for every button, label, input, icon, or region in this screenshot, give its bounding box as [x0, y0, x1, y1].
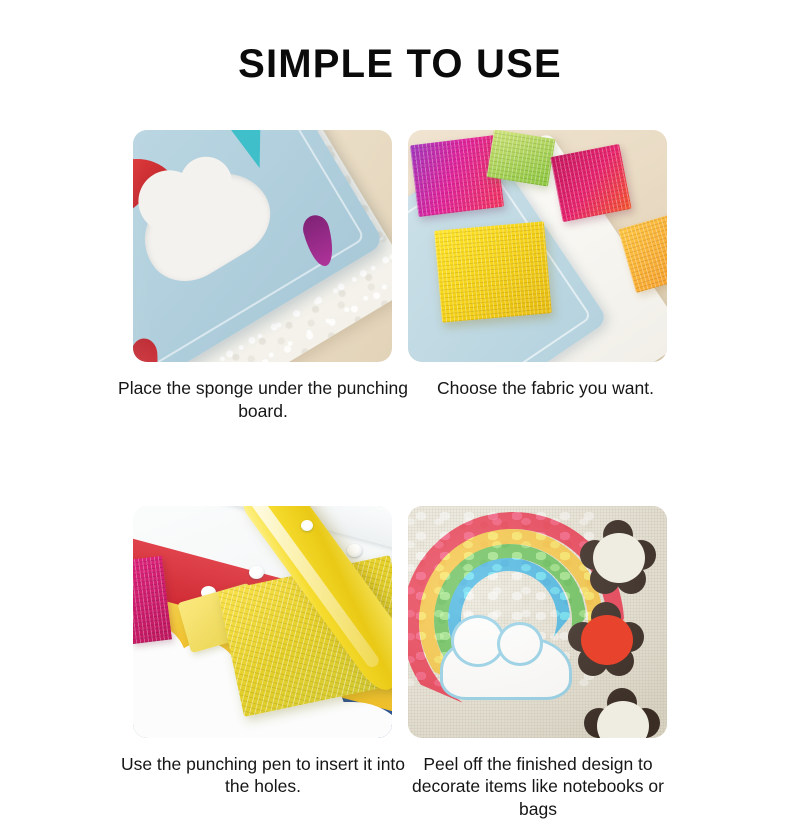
fabric-swatch-yellow: [434, 221, 552, 322]
page-title: SIMPLE TO USE: [0, 42, 800, 87]
cloud-cutout-icon: [133, 155, 285, 297]
punch-hole: [301, 520, 313, 531]
step-image-2: [408, 130, 667, 362]
step-cell-1: Place the sponge under the punching boar…: [133, 130, 392, 423]
step-cell-3: Use the punching pen to insert it into t…: [133, 506, 392, 821]
step-caption-1: Place the sponge under the punching boar…: [118, 377, 408, 423]
steps-grid: Place the sponge under the punching boar…: [133, 130, 667, 821]
infographic-page: SIMPLE TO USE Place the sponge under the…: [0, 0, 800, 800]
punch-hole: [347, 544, 362, 557]
step-image-1: [133, 130, 392, 362]
fabric-swatch-green: [487, 130, 556, 187]
flower-filled-icon: [568, 602, 644, 676]
step-cell-2: Choose the fabric you want.: [408, 130, 667, 423]
step-cell-4: Peel off the finished design to decorate…: [408, 506, 667, 821]
red-droplet-icon: [133, 338, 159, 362]
step-caption-4: Peel off the finished design to decorate…: [393, 753, 683, 821]
fabric-swatch-crimson: [550, 144, 631, 222]
step-image-4: [408, 506, 667, 738]
flower-outline-icon: [584, 688, 660, 738]
flower-outline-icon: [580, 520, 656, 594]
step-image-3: [133, 506, 392, 738]
step-caption-3: Use the punching pen to insert it into t…: [118, 753, 408, 799]
cloud-outline-icon: [440, 636, 572, 700]
punch-hole: [249, 566, 264, 579]
purple-droplet-icon: [300, 212, 339, 269]
step-caption-2: Choose the fabric you want.: [416, 377, 675, 400]
